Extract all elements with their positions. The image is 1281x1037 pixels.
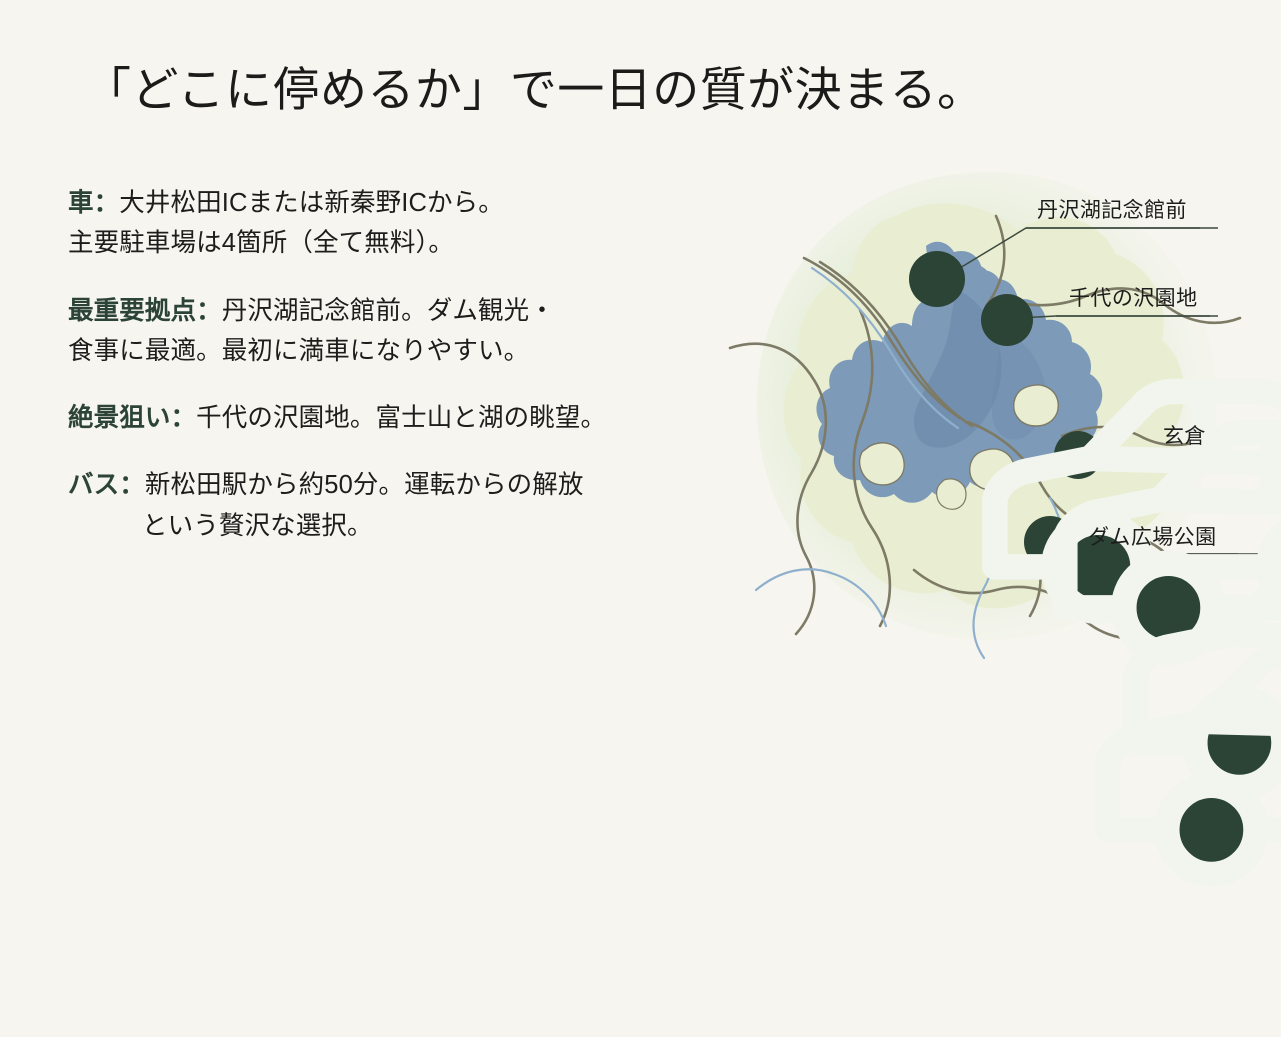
body-label: バス： [68, 471, 145, 499]
body-text: 千代の沢園地。富士山と湖の眺望。 [196, 404, 606, 432]
body-block-key-spot: 最重要拠点：丹沢湖記念館前。ダム観光・ 食事に最適。最初に満車になりやすい。 [68, 291, 708, 372]
body-text: 新松田駅から約50分。運転からの解放 [145, 471, 584, 499]
body-label: 車： [68, 189, 119, 217]
body-block-bus: バス：新松田駅から約50分。運転からの解放 という贅沢な選択。 [68, 465, 708, 546]
body-block-scenic: 絶景狙い：千代の沢園地。富士山と湖の眺望。 [68, 398, 708, 438]
body-line: 主要駐車場は4箇所（全て無料）。 [68, 223, 708, 263]
map-label-chiyonosawa-enchi: 千代の沢園地 [1069, 288, 1198, 309]
marker-circle-1 [909, 251, 965, 307]
map-label-tanzawako-kinenkan-mae: 丹沢湖記念館前 [1037, 200, 1187, 221]
marker-circle-4 [1024, 516, 1076, 568]
map-label-kurokura: 玄倉 [1163, 426, 1206, 447]
body-line: 食事に最適。最初に満車になりやすい。 [68, 331, 708, 371]
map-illustration: 丹沢湖記念館前 千代の沢園地 玄倉 ダム広場公園 [700, 150, 1260, 660]
body-line: 絶景狙い：千代の沢園地。富士山と湖の眺望。 [68, 398, 708, 438]
body-text: 大井松田ICまたは新秦野ICから。 [119, 189, 504, 217]
body-text: 丹沢湖記念館前。ダム観光・ [222, 297, 555, 325]
body-copy: 車：大井松田ICまたは新秦野ICから。 主要駐車場は4箇所（全て無料）。 最重要… [68, 183, 708, 546]
body-block-car: 車：大井松田ICまたは新秦野ICから。 主要駐車場は4箇所（全て無料）。 [68, 183, 708, 264]
marker-circle-2 [981, 294, 1033, 346]
body-line: 最重要拠点：丹沢湖記念館前。ダム観光・ [68, 291, 708, 331]
slide-canvas: 「どこに停めるか」で一日の質が決まる。 車：大井松田ICまたは新秦野ICから。 … [0, 0, 1281, 696]
body-line: バス：新松田駅から約50分。運転からの解放 [68, 465, 708, 505]
marker-circle-3 [1054, 431, 1102, 479]
map-svg [700, 150, 1260, 660]
body-label: 絶景狙い： [68, 404, 196, 432]
body-label: 最重要拠点： [68, 297, 222, 325]
body-line: 車：大井松田ICまたは新秦野ICから。 [68, 183, 708, 223]
body-line: という贅沢な選択。 [68, 506, 708, 546]
page-title: 「どこに停めるか」で一日の質が決まる。 [84, 62, 985, 121]
map-label-dam-hiroba-koen: ダム広場公園 [1088, 527, 1217, 548]
